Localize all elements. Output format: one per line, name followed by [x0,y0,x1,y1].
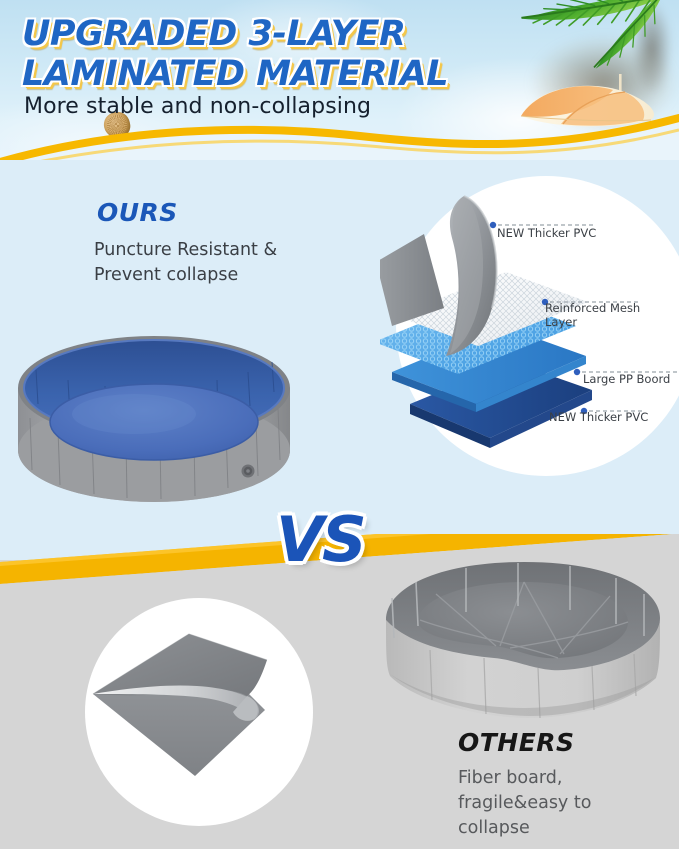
ours-label: OURS [97,198,178,227]
callout-label-pp-board: Large PP Boord [583,372,673,386]
callout-label-bottom-pvc: NEW Thicker PVC [549,410,649,424]
others-label: OTHERS [458,728,575,757]
infographic-page: UPGRADED 3-LAYER LAMINATED MATERIAL More… [0,0,679,849]
callout-label-mesh: Reinforced Mesh Layer [545,301,665,329]
title-line-1: UPGRADED 3-LAYER [22,14,406,54]
callout-dot-pp [574,369,580,375]
ours-description: Puncture Resistant & Prevent collapse [94,238,309,288]
vs-badge: VS [276,500,396,580]
blue-foldable-pool-icon [14,330,294,510]
page-subtitle: More stable and non-collapsing [24,94,494,119]
single-layer-peeling-sheet-icon [85,598,313,826]
others-description: Fiber board, fragile&easy to collapse [458,766,648,841]
title-line-2: LAMINATED MATERIAL [22,54,492,94]
hero-banner: UPGRADED 3-LAYER LAMINATED MATERIAL [0,0,679,172]
collapsed-grey-pool-icon [378,548,668,730]
page-title: UPGRADED 3-LAYER LAMINATED MATERIAL [22,14,492,94]
callout-dot-top-pvc [490,222,496,228]
callout-label-top-pvc: NEW Thicker PVC [497,226,596,240]
